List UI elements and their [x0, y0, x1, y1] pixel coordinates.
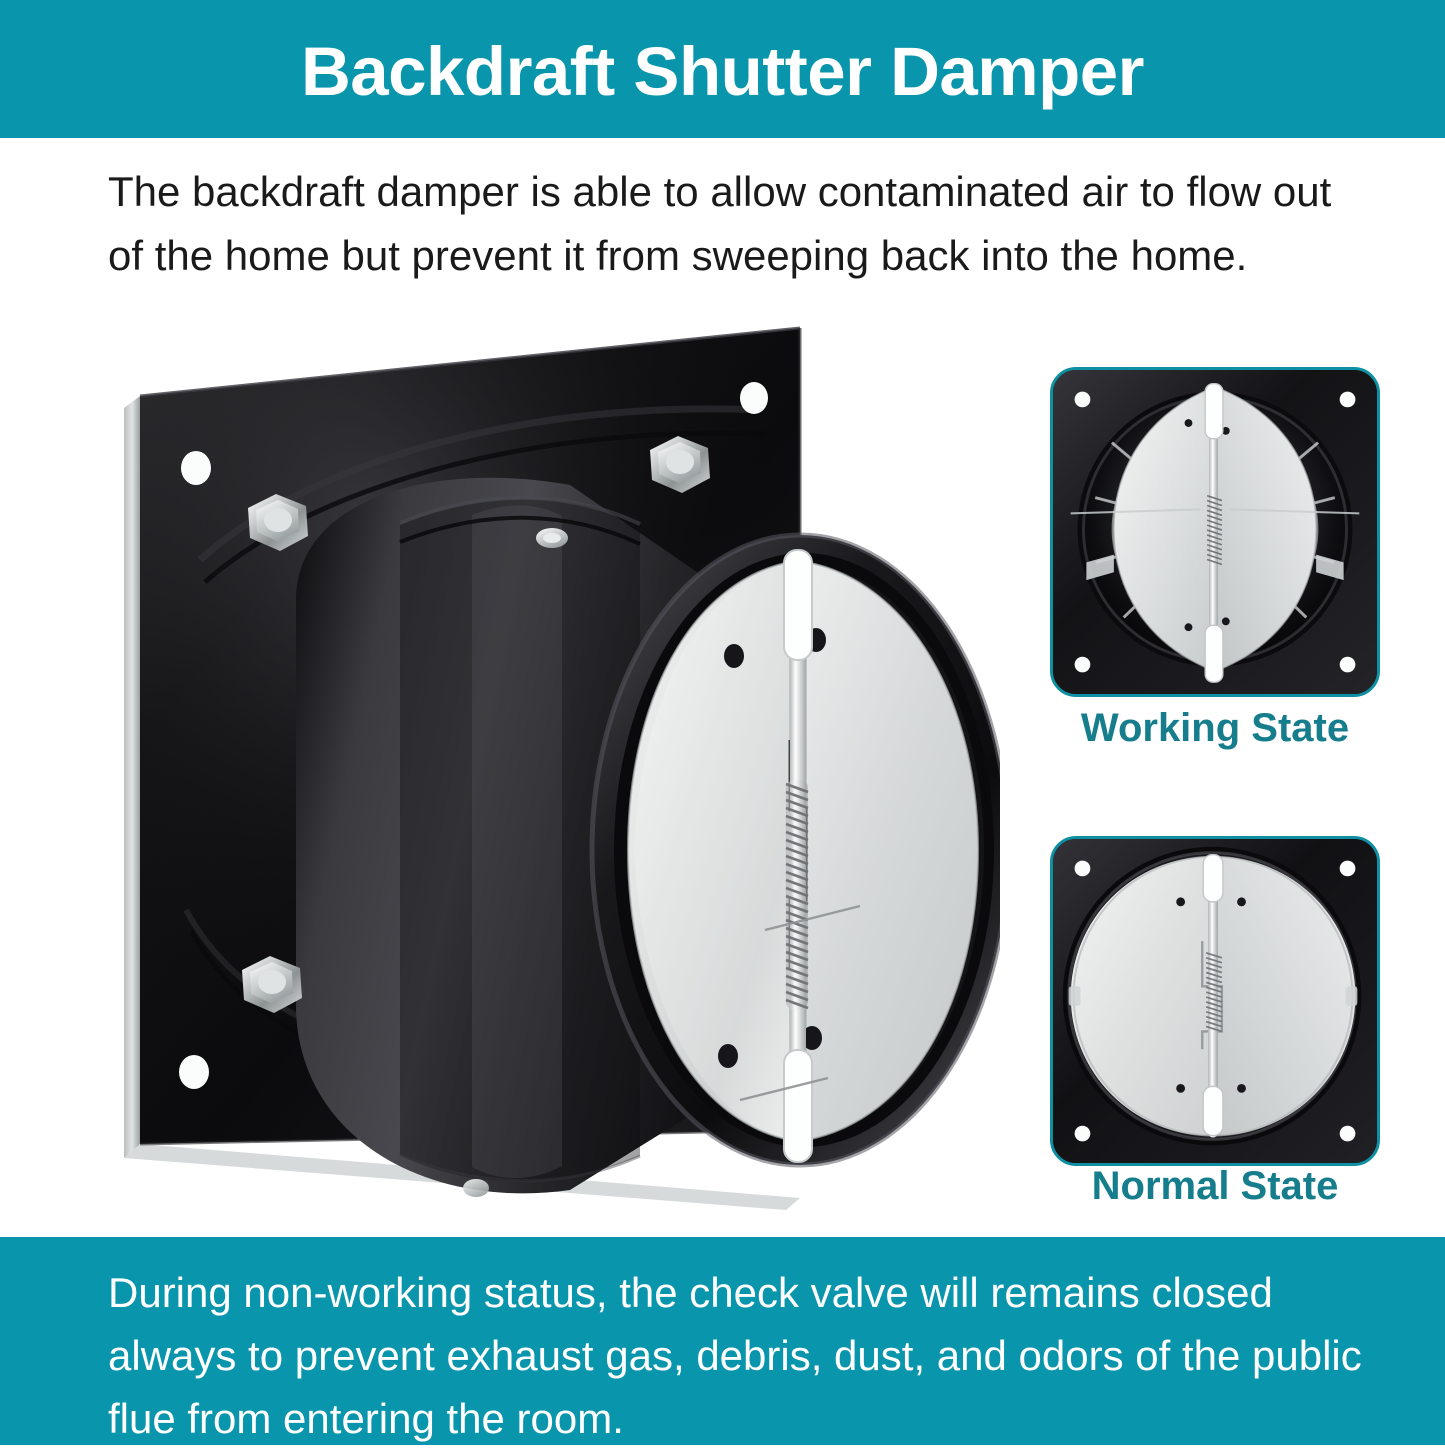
inset-mount-hole [1075, 1126, 1091, 1142]
inset-caption-working: Working State [1050, 708, 1380, 748]
footer-paragraph: During non-working status, the check val… [108, 1261, 1363, 1450]
infographic-page: Backdraft Shutter Damper The backdraft d… [0, 0, 1445, 1445]
flap-rivet [718, 1044, 738, 1068]
side-clip [1069, 986, 1081, 1006]
inset-mount-hole [1075, 657, 1091, 673]
flap-rivet [724, 644, 744, 668]
plate-mount-hole [179, 1055, 209, 1089]
return-spring [786, 780, 808, 1010]
inset-caption-normal: Normal State [1050, 1166, 1380, 1206]
page-title: Backdraft Shutter Damper [301, 37, 1144, 106]
inset-normal-state [1050, 836, 1380, 1166]
hinge-bushing-bottom [1203, 1086, 1223, 1135]
hero-product-image [100, 310, 1000, 1210]
plate-mount-hole [181, 451, 211, 485]
footer-banner: During non-working status, the check val… [0, 1237, 1445, 1445]
hinge-bushing-top [784, 550, 812, 660]
inset-mount-hole [1340, 657, 1356, 673]
inset-mount-hole [1075, 392, 1091, 408]
hinge-bushing-bottom [1205, 625, 1223, 682]
hinge-bushing-top [1205, 384, 1223, 439]
hinge-bushing-top [1203, 855, 1223, 902]
inset-mount-hole [1075, 861, 1091, 877]
inset-mount-hole [1340, 392, 1356, 408]
inset-working-state [1050, 367, 1380, 697]
side-clip [1346, 986, 1358, 1006]
intro-paragraph: The backdraft damper is able to allow co… [108, 160, 1358, 288]
plate-mount-hole [740, 382, 768, 414]
inset-mount-hole [1340, 861, 1356, 877]
hinge-bushing-bottom [784, 1050, 812, 1162]
title-banner: Backdraft Shutter Damper [0, 0, 1445, 138]
barrel-screw [463, 1179, 489, 1197]
inset-mount-hole [1340, 1126, 1356, 1142]
